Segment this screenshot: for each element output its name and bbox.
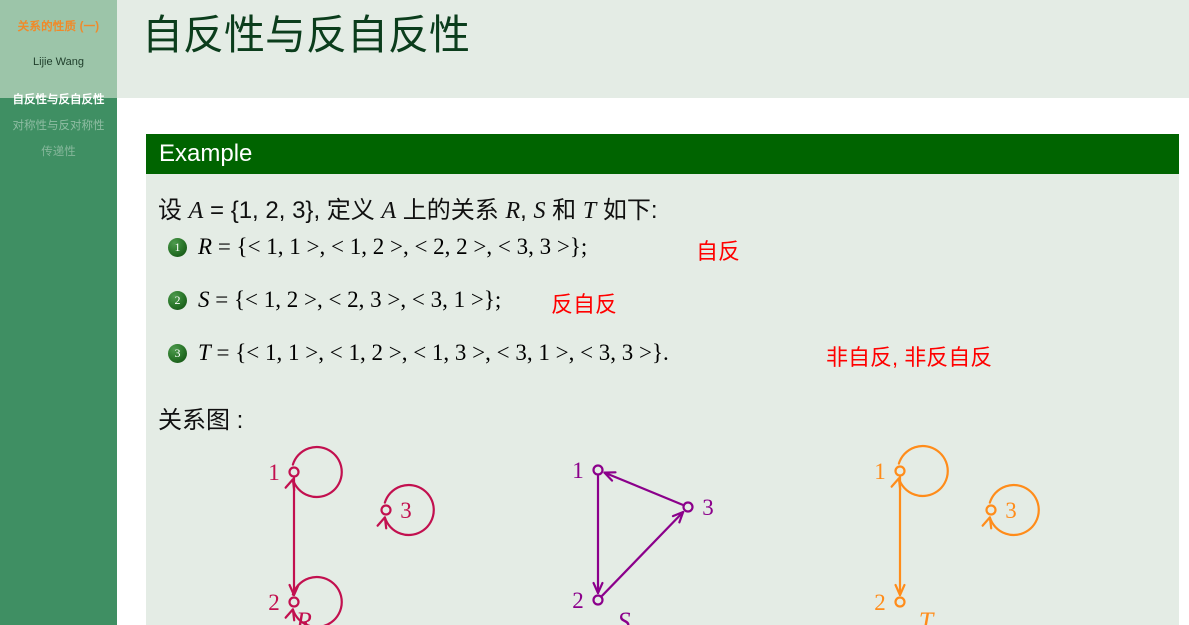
graph-node-T-1[interactable] [896, 467, 905, 476]
edge-3-to-1 [604, 473, 682, 505]
sidebar-item-transitive[interactable]: 传递性 [0, 144, 117, 170]
graph-node-label-T-1: 1 [874, 459, 886, 484]
arrowhead [983, 517, 992, 528]
relation-graphs-svg: 123R123S123T [146, 174, 1179, 625]
graph-node-label-T-2: 2 [874, 590, 886, 615]
relation-graph-T: 123T [874, 446, 1039, 625]
self-loop-1 [293, 447, 342, 497]
relation-graph-S: 123S [572, 458, 714, 625]
graph-node-R-2[interactable] [290, 598, 299, 607]
graph-label-R: R [295, 607, 312, 625]
sidebar-header-panel [0, 0, 117, 98]
arrowhead [378, 517, 387, 528]
sidebar-nav: 自反性与反自反性 对称性与反对称性 传递性 [0, 92, 117, 170]
graph-node-T-3[interactable] [987, 506, 996, 515]
sidebar-body-panel [0, 98, 117, 625]
sidebar-author: Lijie Wang [0, 56, 117, 68]
graph-node-label-T-3: 3 [1005, 498, 1017, 523]
graph-label-T: T [919, 607, 935, 625]
graph-node-label-S-1: 1 [572, 458, 584, 483]
sidebar-item-symmetric[interactable]: 对称性与反对称性 [0, 118, 117, 144]
self-loop-1 [899, 446, 948, 496]
sidebar: 关系的性质 (一) Lijie Wang 自反性与反自反性 对称性与反对称性 传… [0, 0, 117, 625]
graph-node-R-3[interactable] [382, 506, 391, 515]
graph-node-label-S-3: 3 [702, 495, 714, 520]
example-block: Example 设 A = {1, 2, 3}, 定义 A 上的关系 R, S … [146, 134, 1179, 625]
example-block-header: Example [146, 134, 1179, 174]
graph-node-R-1[interactable] [290, 468, 299, 477]
graph-label-S: S [618, 607, 631, 625]
edge-2-to-3 [602, 512, 683, 596]
graph-node-label-S-2: 2 [572, 588, 584, 613]
graph-node-S-3[interactable] [684, 503, 693, 512]
graph-node-T-2[interactable] [896, 598, 905, 607]
graph-node-label-R-1: 1 [268, 460, 280, 485]
sidebar-item-reflexive[interactable]: 自反性与反自反性 [0, 92, 117, 118]
sidebar-deck-title: 关系的性质 (一) [0, 18, 117, 34]
graph-node-S-1[interactable] [594, 466, 603, 475]
graph-node-label-R-3: 3 [400, 498, 412, 523]
graph-node-label-R-2: 2 [268, 590, 280, 615]
example-block-body: 设 A = {1, 2, 3}, 定义 A 上的关系 R, S 和 T 如下: … [146, 174, 1179, 625]
relation-graph-R: 123R [268, 447, 434, 625]
graph-node-S-2[interactable] [594, 596, 603, 605]
slide-title-bar: 自反性与反自反性 [117, 0, 1189, 98]
page-title: 自反性与反自反性 [142, 9, 470, 61]
arrowhead [286, 609, 295, 620]
